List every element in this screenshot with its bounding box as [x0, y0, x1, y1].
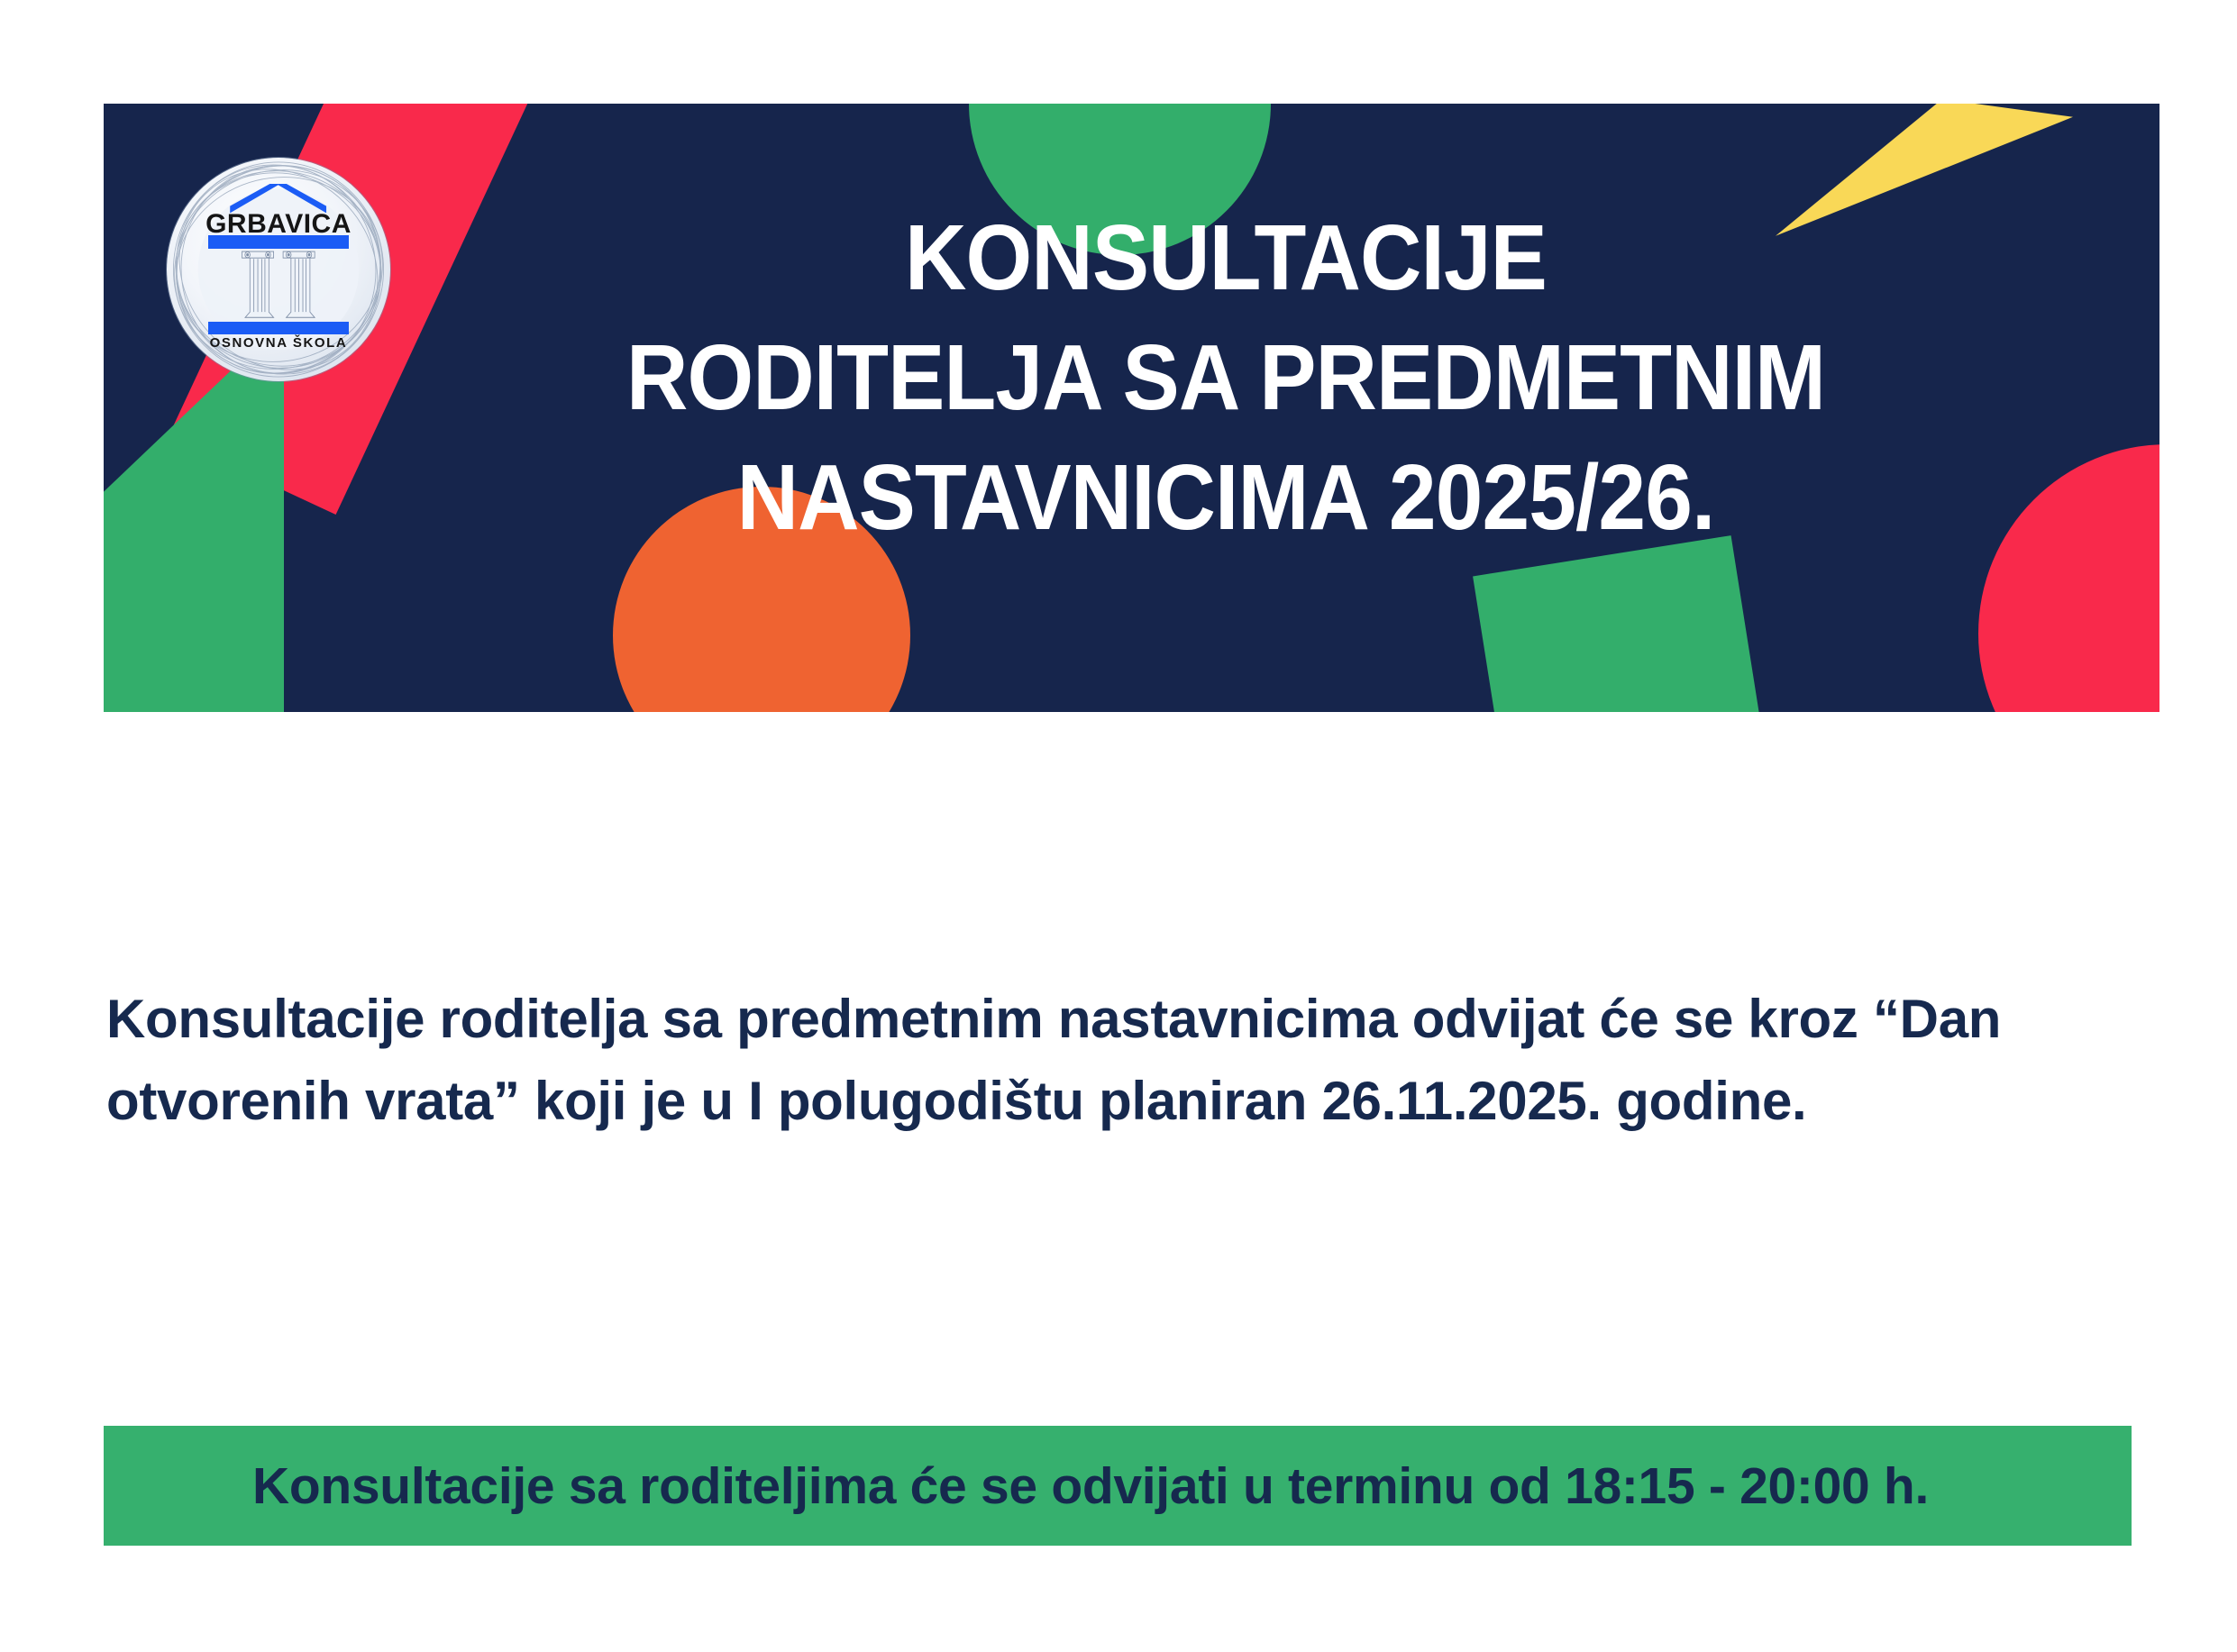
page-title: KONSULTACIJE RODITELJA SA PREDMETNIM NAS…	[467, 198, 1985, 558]
logo-columns-icon	[239, 248, 318, 321]
hero-banner: GRBAVICA OSNOVNA ŠKOLA	[104, 104, 2159, 712]
notice-banner: Konsultacije sa roditeljima će se odvija…	[104, 1426, 2132, 1546]
body-paragraph: Konsultacije roditelja sa predmetnim nas…	[106, 978, 2179, 1142]
green-tilted-square-shape	[1473, 535, 1772, 712]
logo-school-type: OSNOVNA ŠKOLA	[203, 336, 355, 350]
logo-bar-bottom	[208, 322, 348, 335]
red-circle-shape	[1978, 444, 2159, 712]
school-logo: GRBAVICA OSNOVNA ŠKOLA	[167, 158, 390, 381]
logo-emblem: GRBAVICA OSNOVNA ŠKOLA	[203, 180, 355, 359]
logo-bar-top	[208, 235, 348, 249]
logo-school-name: GRBAVICA	[203, 211, 355, 238]
notice-banner-text: Konsultacije sa roditeljima će se odvija…	[252, 1456, 1983, 1516]
